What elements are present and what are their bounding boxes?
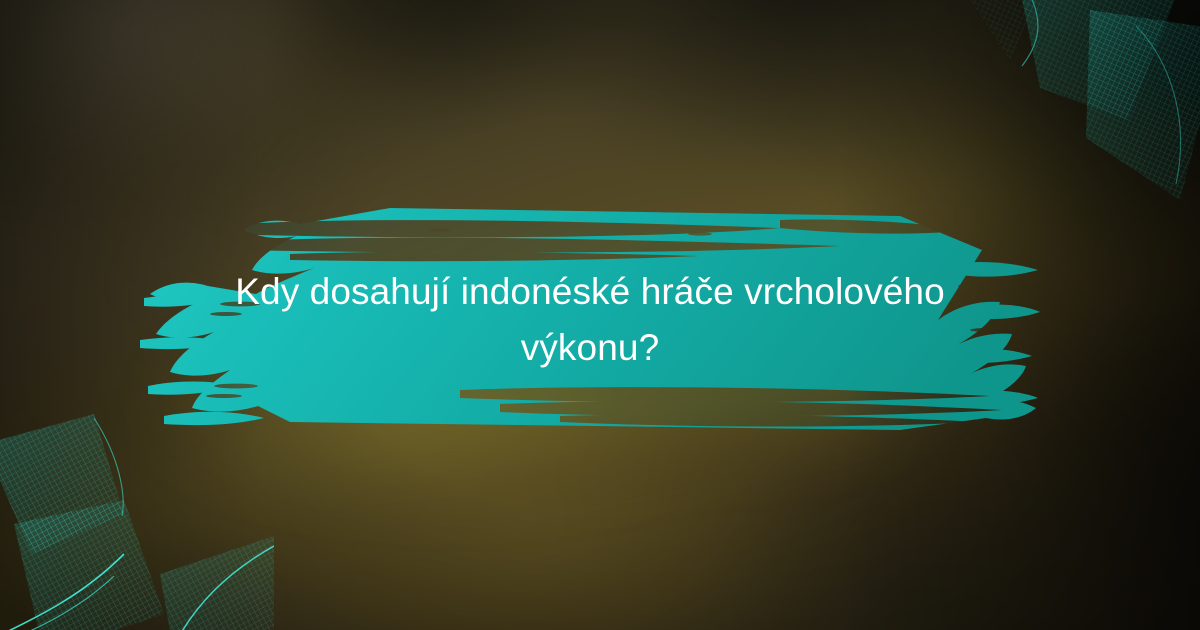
brush-stroke-banner: Kdy dosahují indonéské hráče vrcholového… — [140, 190, 1040, 450]
headline-text: Kdy dosahují indonéské hráče vrcholového… — [220, 264, 960, 376]
share-card: Kdy dosahují indonéské hráče vrcholového… — [0, 0, 1200, 630]
page-title: Kdy dosahují indonéské hráče vrcholového… — [200, 190, 980, 450]
